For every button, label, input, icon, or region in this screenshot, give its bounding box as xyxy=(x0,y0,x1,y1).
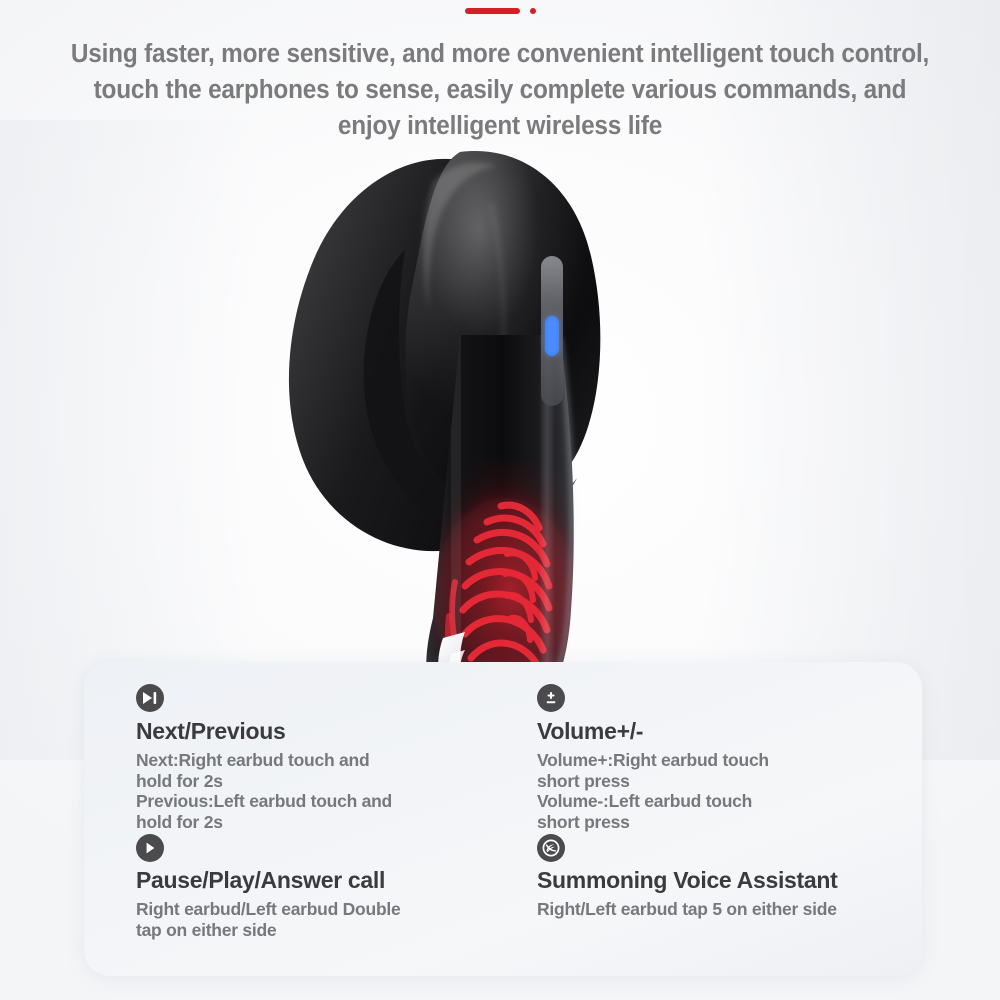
play-icon xyxy=(136,834,164,862)
next-track-icon xyxy=(136,684,164,712)
control-item-next-previous: Next/Previous Next:Right earbud touch an… xyxy=(136,676,507,832)
page-headline: Using faster, more sensitive, and more c… xyxy=(44,36,957,144)
accent-dot xyxy=(530,8,536,14)
control-item-volume: Volume+/- Volume+:Right earbud touch sho… xyxy=(525,676,896,832)
control-description: Volume+:Right earbud touch short press V… xyxy=(537,750,896,832)
control-description: Right/Left earbud tap 5 on either side xyxy=(537,899,896,920)
control-title: Volume+/- xyxy=(537,718,896,745)
earbud-illustration xyxy=(255,130,675,750)
product-feature-page: Using faster, more sensitive, and more c… xyxy=(0,0,1000,1000)
control-description: Next:Right earbud touch and hold for 2s … xyxy=(136,750,507,832)
control-title: Next/Previous xyxy=(136,718,507,745)
touch-control-panel: Next/Previous Next:Right earbud touch an… xyxy=(84,662,922,976)
accent-mark xyxy=(0,8,1000,14)
voice-assistant-icon xyxy=(537,834,565,862)
control-description: Right earbud/Left earbud Double tap on e… xyxy=(136,899,507,940)
control-item-voice-assistant: Summoning Voice Assistant Right/Left ear… xyxy=(525,832,896,964)
volume-plus-minus-icon xyxy=(537,684,565,712)
control-title: Pause/Play/Answer call xyxy=(136,867,507,894)
control-title: Summoning Voice Assistant xyxy=(537,867,896,894)
control-item-pause-play: Pause/Play/Answer call Right earbud/Left… xyxy=(136,832,507,964)
accent-bar xyxy=(465,8,520,14)
